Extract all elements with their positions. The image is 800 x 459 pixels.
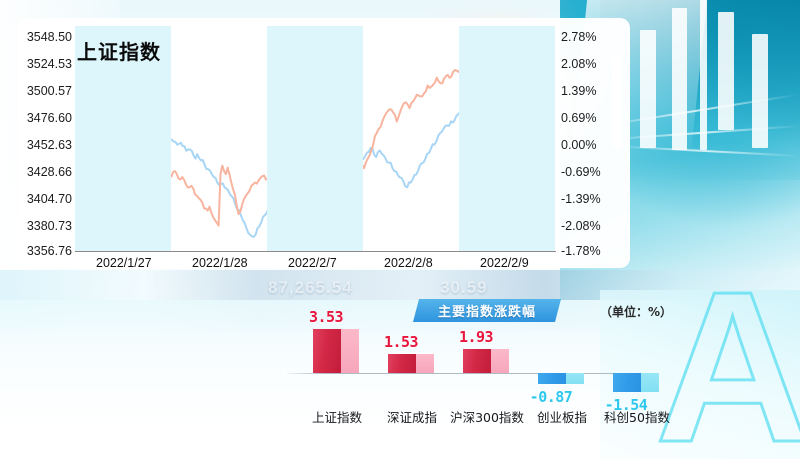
bar-side-face [341, 329, 359, 373]
bar-chart-baseline [287, 373, 659, 374]
y-axis-right-tick: 0.00% [561, 138, 596, 152]
line-chart-right-axis: 2.78% 2.08% 1.39% 0.69% 0.00% -0.69% -1.… [555, 18, 630, 268]
y-axis-left-tick: 3452.63 [27, 138, 72, 152]
bar-front-face [463, 349, 491, 373]
y-axis-right-tick: 0.69% [561, 111, 596, 125]
y-axis-left-tick: 3524.53 [27, 57, 72, 71]
screenshot-canvas: 87,265.54 30.59 5,618.74 22 350 A 3548.5… [0, 0, 800, 459]
line-chart-left-axis: 3548.50 3524.53 3500.57 3476.60 3452.63 … [18, 18, 76, 268]
bar-category-label: 科创50指数 [589, 407, 685, 426]
background-candle-1 [640, 30, 656, 148]
bar-5 [613, 373, 659, 392]
y-axis-left-tick: 3356.76 [27, 244, 72, 258]
day-band-4 [363, 26, 459, 251]
y-axis-right-tick: -0.69% [561, 165, 601, 179]
background-candle-2 [672, 8, 687, 150]
x-axis-line [75, 251, 556, 252]
background-candle-5 [752, 34, 768, 148]
bar-chart-banner: 主要指数涨跌幅 [413, 299, 561, 322]
y-axis-right-tick: 2.08% [561, 57, 596, 71]
bar-front-face [388, 354, 416, 373]
y-axis-left-tick: 3404.70 [27, 192, 72, 206]
bar-3 [463, 349, 509, 373]
y-axis-right-tick: -1.78% [561, 244, 601, 258]
bar-chart-unit-note: （单位：%） [600, 303, 672, 320]
line-chart-title: 上证指数 [77, 36, 161, 65]
y-axis-left-tick: 3380.73 [27, 219, 72, 233]
x-axis-tick-label: 2022/1/27 [96, 256, 152, 270]
day-band-3 [267, 26, 363, 251]
background-watermark-number-1: 87,265.54 [268, 278, 353, 298]
y-axis-right-tick: -1.39% [561, 192, 601, 206]
bar-side-face [416, 354, 434, 373]
bar-front-face [613, 373, 641, 392]
background-candle-3 [700, 0, 707, 150]
bar-chart-banner-label: 主要指数涨跌幅 [438, 301, 536, 320]
y-axis-left-tick: 3428.66 [27, 165, 72, 179]
background-watermark-number-2: 30.59 [440, 278, 488, 298]
y-axis-left-tick: 3500.57 [27, 84, 72, 98]
x-axis-tick-label: 2022/2/8 [384, 256, 433, 270]
day-band-2 [171, 26, 267, 251]
y-axis-left-tick: 3548.50 [27, 30, 72, 44]
x-axis-tick-label: 2022/1/28 [192, 256, 248, 270]
x-axis-tick-label: 2022/2/7 [288, 256, 337, 270]
bar-value-label: 1.53 [364, 333, 438, 351]
bar-side-face [641, 373, 659, 392]
bar-value-label: -0.87 [514, 388, 588, 406]
bar-side-face [491, 349, 509, 373]
bar-value-label: 3.53 [289, 308, 363, 326]
bar-2 [388, 354, 434, 373]
background-letter-a-mark: A [655, 292, 800, 459]
y-axis-right-tick: -2.08% [561, 219, 601, 233]
bar-front-face [538, 373, 566, 384]
bar-4 [538, 373, 584, 384]
background-candle-4 [718, 12, 734, 130]
x-axis-tick-label: 2022/2/9 [480, 256, 529, 270]
day-band-5 [459, 26, 555, 251]
bar-1 [313, 329, 359, 373]
bar-value-label: 1.93 [439, 328, 513, 346]
bar-side-face [566, 373, 584, 384]
bar-front-face [313, 329, 341, 373]
y-axis-left-tick: 3476.60 [27, 111, 72, 125]
y-axis-right-tick: 1.39% [561, 84, 596, 98]
y-axis-right-tick: 2.78% [561, 30, 596, 44]
